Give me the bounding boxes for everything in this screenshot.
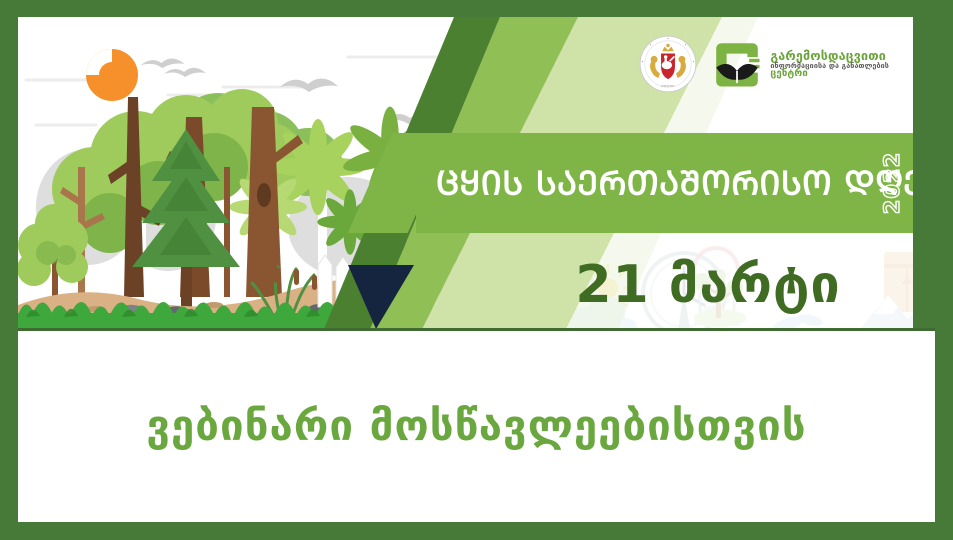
banner-title: ᲪᲧᲘᲡ ᲡᲐᲔᲠᲗᲐᲨᲝᲠᲘᲡᲝ ᲓᲦᲔ <box>436 167 924 200</box>
footer-text: ვებინარი მოსწავლეებისთვის <box>146 405 806 447</box>
date-text: 21 მარტი <box>575 259 840 311</box>
eic-logo-text: გარემოსდაცვითი ინფორმაციისა და განათლები… <box>770 49 889 80</box>
right-rail <box>913 17 935 329</box>
eic-line-1: გარემოსდაცვითი <box>770 49 889 62</box>
poster-inner: ᲪᲧᲘᲡ ᲡᲐᲔᲠᲗᲐᲨᲝᲠᲘᲡᲝ ᲓᲦᲔ 2022 21 მარტი <box>18 17 935 522</box>
banner-year: 2022 <box>880 152 904 214</box>
bottom-panel: ვებინარი მოსწავლეებისთვის <box>18 331 935 521</box>
date-line: 21 მარტი <box>488 242 928 328</box>
eic-logo: გარემოსდაცვითი ინფორმაციისა და განათლები… <box>711 38 889 90</box>
logo-block: MINISTRY გარემოსდაცვითი ინფორმაციისა და … <box>639 35 889 93</box>
divider-rule <box>18 328 935 331</box>
svg-text:MINISTRY: MINISTRY <box>662 84 676 88</box>
top-panel: ᲪᲧᲘᲡ ᲡᲐᲔᲠᲗᲐᲨᲝᲠᲘᲡᲝ ᲓᲦᲔ 2022 21 მარტი <box>18 17 935 329</box>
government-emblem-icon: MINISTRY <box>639 35 697 93</box>
eic-line-3: ცენტრი <box>770 69 889 79</box>
eic-logo-mark-icon <box>711 38 763 90</box>
poster-frame: ᲪᲧᲘᲡ ᲡᲐᲔᲠᲗᲐᲨᲝᲠᲘᲡᲝ ᲓᲦᲔ 2022 21 მარტი <box>0 0 953 540</box>
title-band: ᲪᲧᲘᲡ ᲡᲐᲔᲠᲗᲐᲨᲝᲠᲘᲡᲝ ᲓᲦᲔ 2022 <box>416 133 933 233</box>
